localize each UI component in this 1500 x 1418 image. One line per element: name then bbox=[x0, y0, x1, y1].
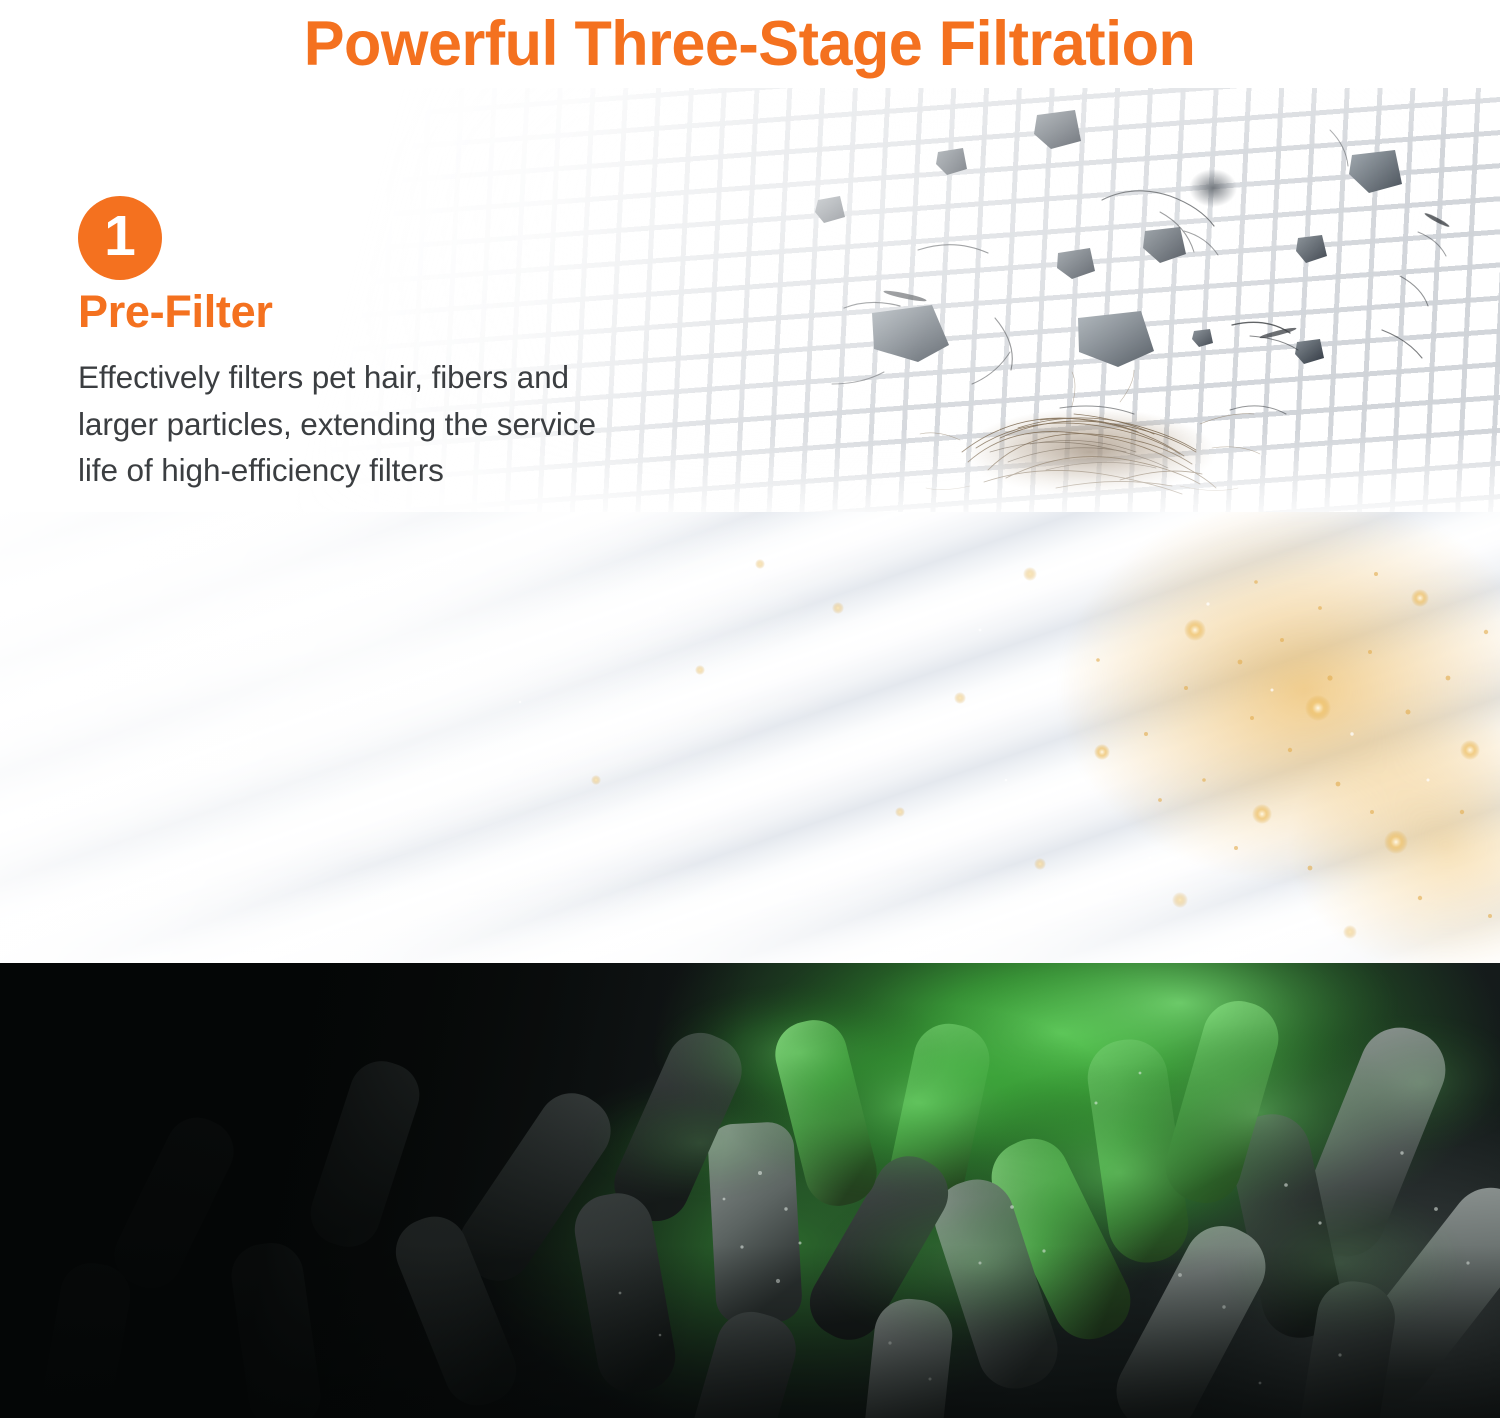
stage-description-line: larger particles, extending the service bbox=[78, 401, 596, 448]
carbon-pellets-image bbox=[0, 963, 1500, 1418]
stage-section-active-carbon-filter: 3 Active Carbon Filter Highly Effective … bbox=[0, 963, 1500, 1418]
header-bar: Powerful Three-Stage Filtration bbox=[0, 0, 1500, 88]
stage-description-1: Effectively filters pet hair, fibers and… bbox=[78, 354, 596, 495]
stage-number-badge-1: 1 bbox=[78, 196, 162, 280]
stage-title-1: Pre-Filter bbox=[78, 288, 596, 337]
page-title: Powerful Three-Stage Filtration bbox=[304, 13, 1196, 76]
stage-description-line: Effectively filters pet hair, fibers and bbox=[78, 354, 596, 401]
stage-block-1: 1 Pre-Filter Effectively filters pet hai… bbox=[78, 196, 596, 494]
stage-description-line: life of high-efficiency filters bbox=[78, 447, 596, 494]
infographic-page: 1 Pre-Filter Effectively filters pet hai… bbox=[0, 0, 1500, 1418]
gold-sparkle-particles bbox=[0, 512, 1500, 963]
hepa-pleats-image bbox=[0, 512, 1500, 963]
stage-section-hepa-filter: 2 HEPA Filter Removes 99.97% of particle… bbox=[0, 512, 1500, 963]
carbon-vignette bbox=[0, 963, 1500, 1418]
